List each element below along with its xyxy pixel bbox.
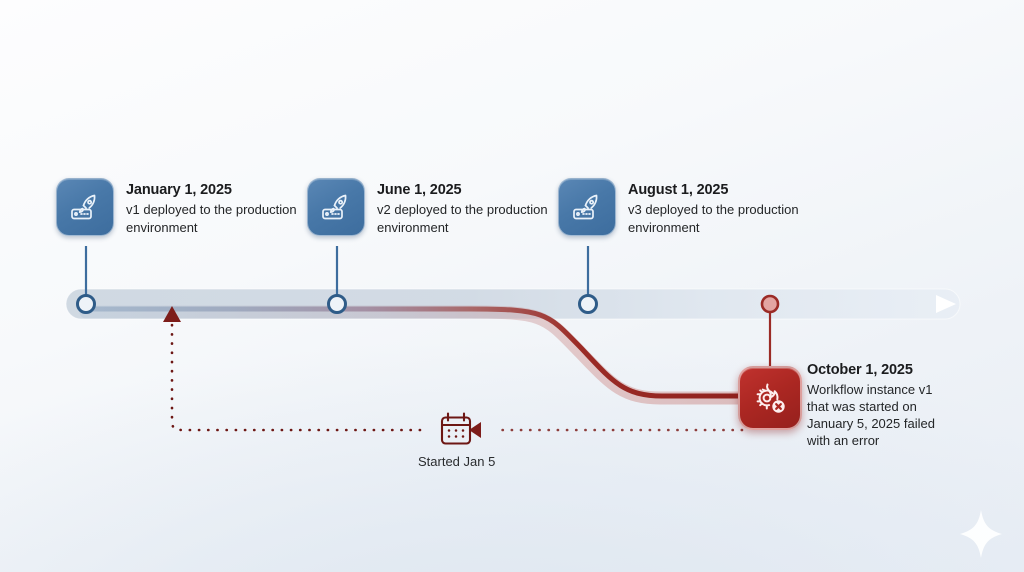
- milestone-description: v2 deployed to the production environmen…: [377, 201, 552, 236]
- milestone-label-jan: January 1, 2025 v1 deployed to the produ…: [126, 182, 301, 236]
- timeline-tracks: [0, 0, 1024, 572]
- start-date-annotation[interactable]: Started Jan 5: [418, 409, 494, 469]
- marker-jan: [78, 296, 95, 313]
- gear-fire-error-icon: [738, 366, 802, 430]
- rocket-deploy-icon: [307, 178, 365, 236]
- failure-description: Worlkflow instance v1 that was started o…: [807, 381, 957, 449]
- milestone-date: June 1, 2025: [377, 182, 552, 198]
- milestone-label-jun: June 1, 2025 v2 deployed to the producti…: [377, 182, 552, 236]
- marker-jun: [329, 296, 346, 313]
- milestone-description: v1 deployed to the production environmen…: [126, 201, 301, 236]
- annotation-caption: Started Jan 5: [418, 454, 494, 469]
- calendar-icon: [418, 409, 494, 449]
- marker-aug: [580, 296, 597, 313]
- timeline-diagram: January 1, 2025 v1 deployed to the produ…: [0, 0, 1024, 572]
- failure-label-oct: October 1, 2025 Worlkflow instance v1 th…: [807, 362, 957, 449]
- marker-oct: [762, 296, 778, 312]
- milestone-date: August 1, 2025: [628, 182, 803, 198]
- milestone-label-aug: August 1, 2025 v3 deployed to the produc…: [628, 182, 803, 236]
- failure-date: October 1, 2025: [807, 362, 957, 378]
- milestone-description: v3 deployed to the production environmen…: [628, 201, 803, 236]
- rocket-deploy-icon: [56, 178, 114, 236]
- dotted-path-left: [172, 322, 420, 430]
- rocket-deploy-icon: [558, 178, 616, 236]
- milestone-date: January 1, 2025: [126, 182, 301, 198]
